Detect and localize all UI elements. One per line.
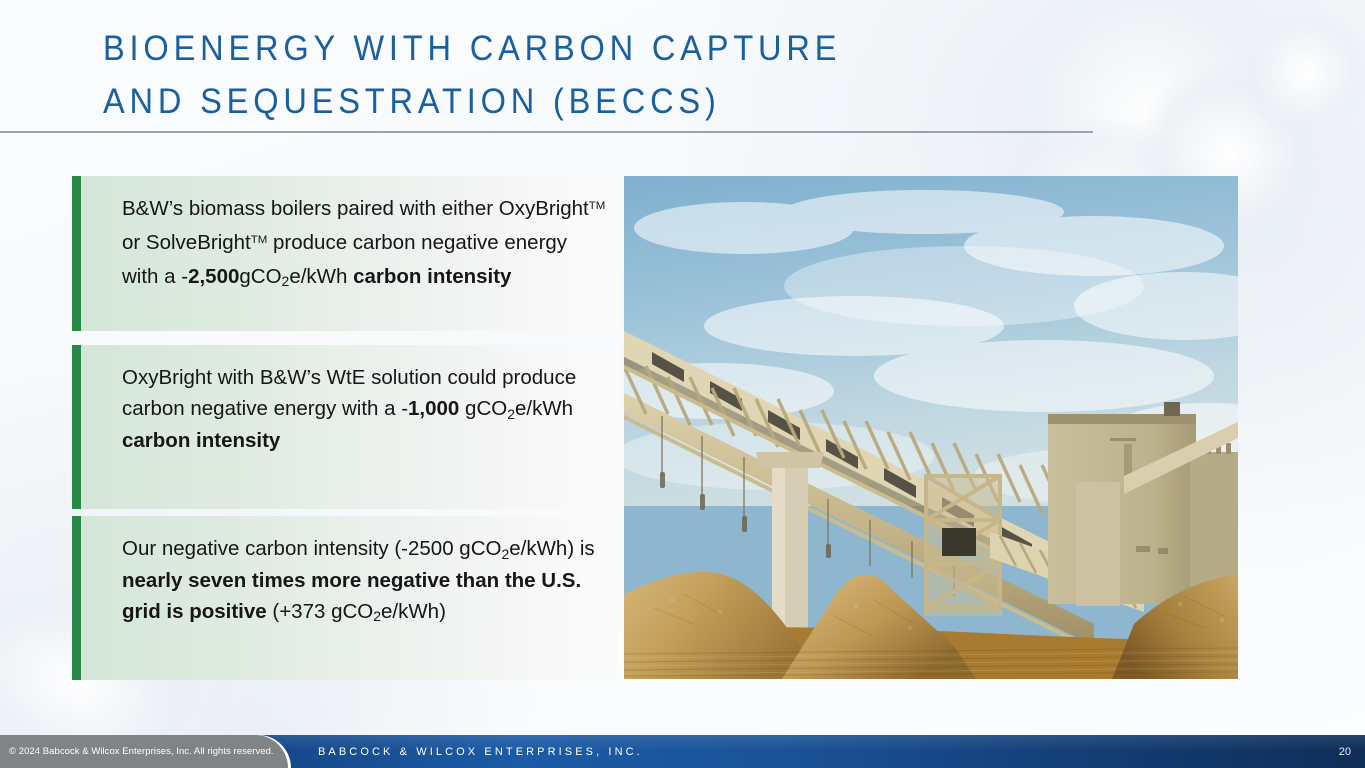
callout-box-3: Our negative carbon intensity (-2500 gCO… xyxy=(72,516,620,680)
footer-copyright-block: © 2024 Babcock & Wilcox Enterprises, Inc… xyxy=(0,735,288,768)
biomass-plant-photo xyxy=(624,176,1238,679)
footer-copyright-text: © 2024 Babcock & Wilcox Enterprises, Inc… xyxy=(0,746,274,757)
footer-company-name: BABCOCK & WILCOX ENTERPRISES, INC. xyxy=(318,735,643,768)
footer-page-number: 20 xyxy=(1339,735,1351,768)
callout-accent-bar xyxy=(72,345,81,509)
title-divider-rule xyxy=(0,131,1093,133)
callout-text-2: OxyBright with B&W’s WtE solution could … xyxy=(81,345,620,509)
photo-illustration xyxy=(624,176,1238,679)
callout-text-1: B&W’s biomass boilers paired with either… xyxy=(81,176,620,331)
callout-accent-bar xyxy=(72,176,81,331)
callout-box-2: OxyBright with B&W’s WtE solution could … xyxy=(72,345,620,509)
background-watermark-shape xyxy=(1240,8,1365,138)
callout-box-1: B&W’s biomass boilers paired with either… xyxy=(72,176,620,331)
slide-canvas: BIOENERGY WITH CARBON CAPTURE AND SEQUES… xyxy=(0,0,1365,768)
slide-footer: © 2024 Babcock & Wilcox Enterprises, Inc… xyxy=(0,735,1365,768)
callout-text-3: Our negative carbon intensity (-2500 gCO… xyxy=(81,516,620,680)
slide-title: BIOENERGY WITH CARBON CAPTURE AND SEQUES… xyxy=(103,22,1033,128)
callout-accent-bar xyxy=(72,516,81,680)
